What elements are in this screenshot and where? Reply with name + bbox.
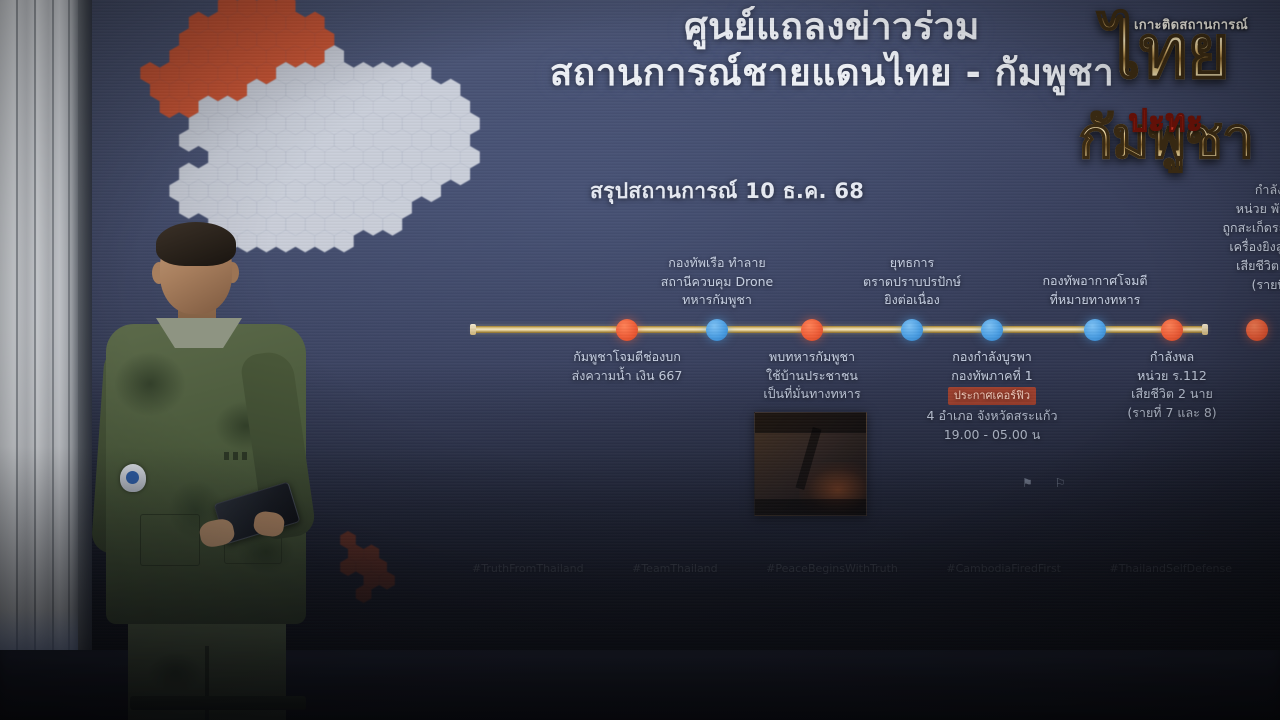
- broadcast-frame: ศูนย์แถลงข่าวร่วม สถานการณ์ชายแดนไทย - ก…: [0, 0, 1280, 720]
- frame-vignette: [0, 0, 1280, 720]
